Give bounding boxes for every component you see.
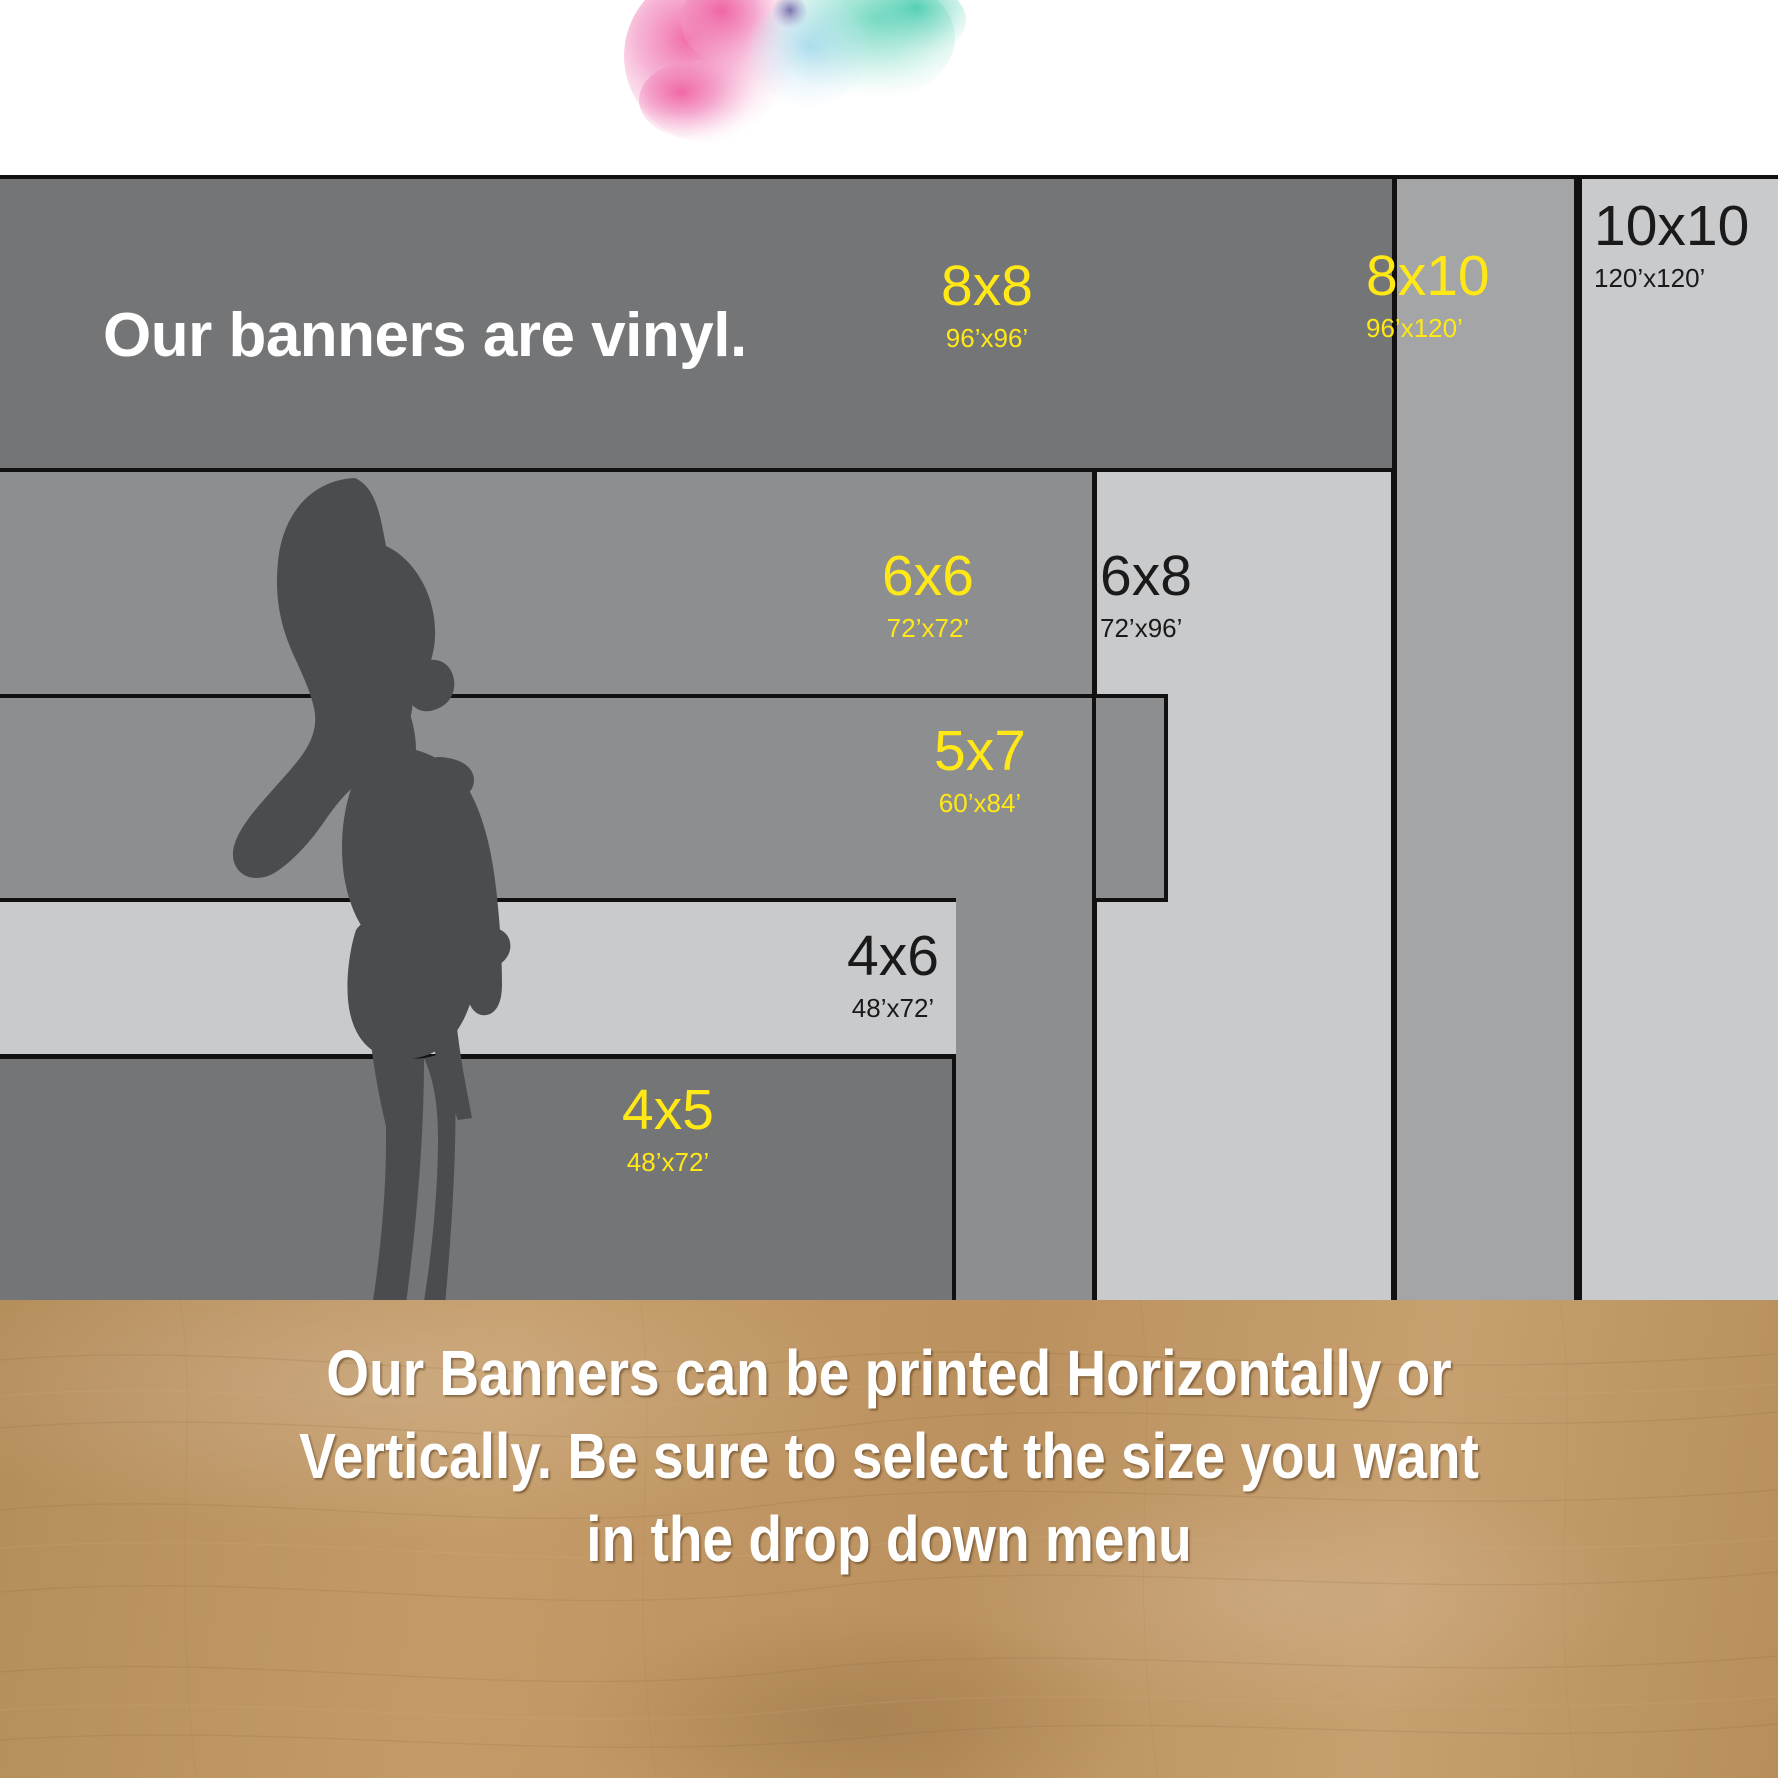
label-8x8-size: 8x8: [897, 258, 1077, 315]
label-4x5: 4x5 48’x72’: [578, 1082, 758, 1175]
label-4x6-dimensions: 48’x72’: [798, 995, 988, 1021]
label-8x10: 8x10 96’x120’: [1366, 248, 1566, 341]
footer-line-2: Vertically. Be sure to select the size y…: [124, 1415, 1653, 1498]
brand-logo-mark: [604, 0, 984, 160]
footer-line-3: in the drop down menu: [124, 1498, 1653, 1581]
label-5x7-size: 5x7: [890, 723, 1070, 780]
label-8x8: 8x8 96’x96’: [897, 258, 1077, 351]
label-10x10-dimensions: 120’x120’: [1594, 265, 1778, 291]
label-6x8-dimensions: 72’x96’: [1100, 615, 1300, 641]
label-4x5-dimensions: 48’x72’: [578, 1149, 758, 1175]
label-8x10-size: 8x10: [1366, 248, 1566, 305]
banner-size-comparison-infographic: DREAM DESIGN GROUP: [0, 0, 1778, 1778]
footer-line-1: Our Banners can be printed Horizontally …: [124, 1332, 1653, 1415]
label-8x8-dimensions: 96’x96’: [897, 325, 1077, 351]
footer-instructions: Our Banners can be printed Horizontally …: [124, 1332, 1653, 1582]
label-6x8-size: 6x8: [1100, 548, 1300, 605]
label-10x10: 10x10 120’x120’: [1594, 198, 1778, 291]
label-4x6-size: 4x6: [798, 928, 988, 985]
label-4x5-size: 4x5: [578, 1082, 758, 1139]
label-5x7: 5x7 60’x84’: [890, 723, 1070, 816]
label-6x6-size: 6x6: [838, 548, 1018, 605]
label-6x6-dimensions: 72’x72’: [838, 615, 1018, 641]
label-4x6: 4x6 48’x72’: [798, 928, 988, 1021]
label-10x10-size: 10x10: [1594, 198, 1778, 255]
banner-rect-10x10[interactable]: [1578, 175, 1778, 1355]
watercolor-blob-logo-icon: [604, 0, 984, 160]
label-6x6: 6x6 72’x72’: [838, 548, 1018, 641]
vinyl-headline-text: Our banners are vinyl.: [103, 300, 747, 371]
label-6x8: 6x8 72’x96’: [1100, 548, 1300, 641]
label-5x7-dimensions: 60’x84’: [890, 790, 1070, 816]
label-8x10-dimensions: 96’x120’: [1366, 315, 1566, 341]
banner-rect-8x10[interactable]: [1393, 175, 1578, 1355]
